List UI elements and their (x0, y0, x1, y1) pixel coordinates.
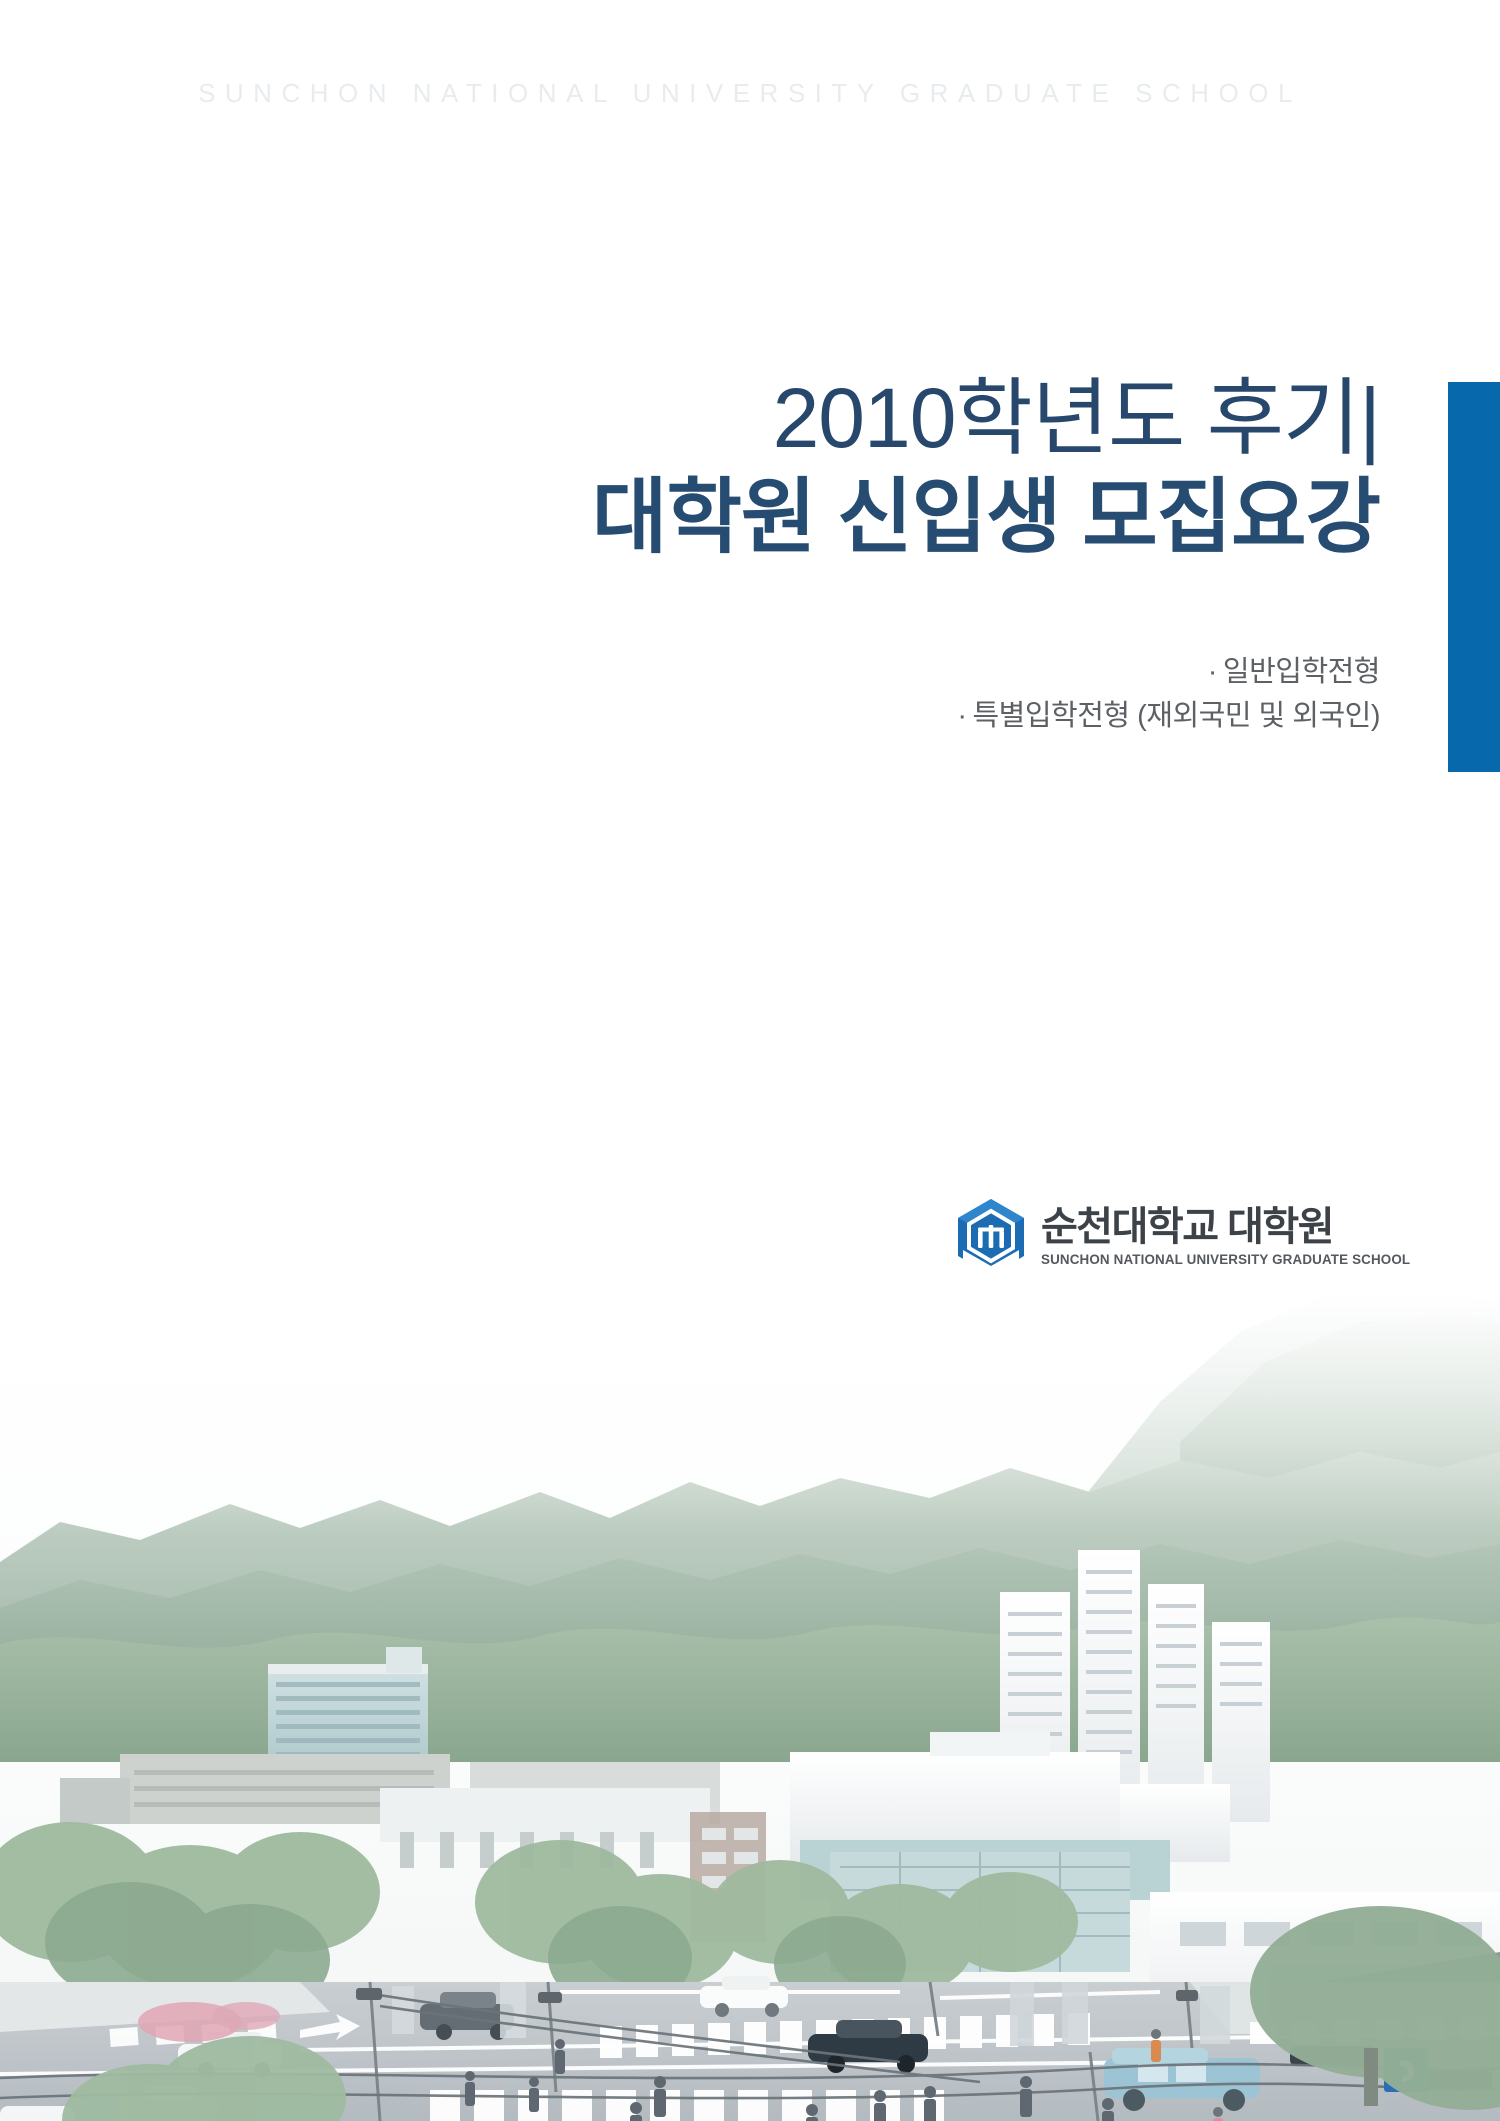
cover-photograph (0, 1292, 1500, 2121)
university-logo: 순천대학교 대학원 SUNCHON NATIONAL UNIVERSITY GR… (955, 1198, 1410, 1276)
list-item-label: 특별입학전형 (재외국민 및 외국인) (972, 700, 1380, 732)
logo-english-name: SUNCHON NATIONAL UNIVERSITY GRADUATE SCH… (1041, 1251, 1410, 1269)
admission-type-list: ·일반입학전형 ·특별입학전형 (재외국민 및 외국인) (0, 650, 1380, 738)
logo-wordmark: 순천대학교 대학원 SUNCHON NATIONAL UNIVERSITY GR… (1041, 1205, 1410, 1269)
brochure-cover-page: SUNCHON NATIONAL UNIVERSITY GRADUATE SCH… (0, 0, 1500, 2121)
bullet-dot-icon: · (957, 700, 966, 732)
list-item-label: 일반입학전형 (1223, 656, 1380, 688)
list-item: ·특별입학전형 (재외국민 및 외국인) (0, 694, 1380, 738)
bullet-dot-icon: · (1208, 656, 1217, 688)
logo-korean-name: 순천대학교 대학원 (1041, 1205, 1410, 1249)
sunchon-hexagon-emblem-icon (955, 1198, 1027, 1276)
list-item: ·일반입학전형 (0, 650, 1380, 694)
accent-bar (1448, 382, 1500, 772)
page-title: 2010학년도 후기| 대학원 신입생 모집요강 (0, 372, 1380, 566)
running-head: SUNCHON NATIONAL UNIVERSITY GRADUATE SCH… (0, 78, 1500, 109)
title-line-2: 대학원 신입생 모집요강 (0, 470, 1380, 566)
title-line-1: 2010학년도 후기| (0, 372, 1380, 464)
